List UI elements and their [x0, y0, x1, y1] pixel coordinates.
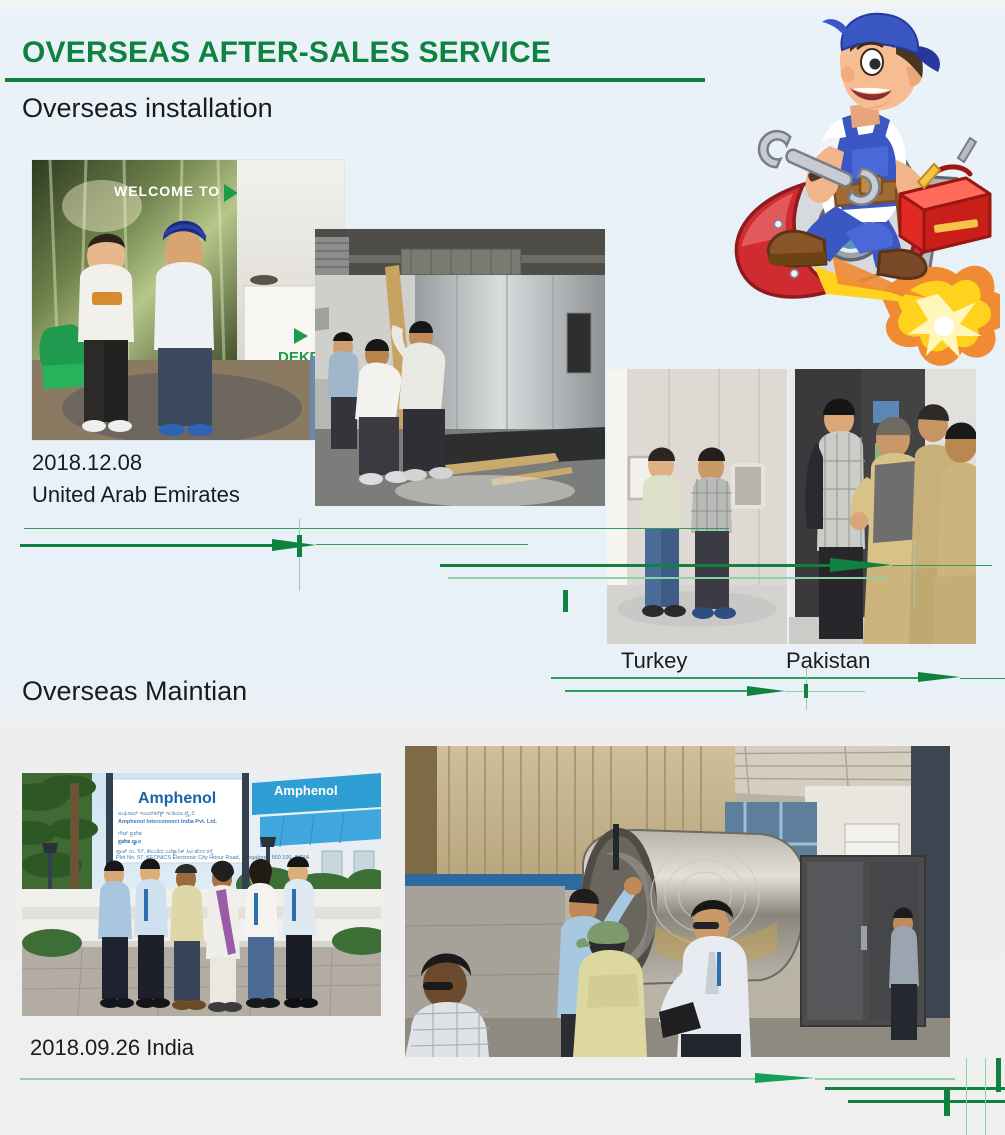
decor-vtick-4a: [944, 1088, 950, 1116]
decor-line-2pale: [448, 577, 888, 579]
decor-vtick-2: [563, 590, 568, 612]
svg-text:Amphenol: Amphenol: [138, 790, 216, 807]
title-underline: [5, 78, 705, 82]
decor-line-3tail2: [785, 691, 865, 692]
decor-line-2tail: [892, 565, 992, 566]
photo-pakistan-chamber: [789, 369, 976, 644]
photo-turkey-chamber: [607, 369, 787, 644]
svg-text:ಗೇಟ್ ಪ್ರವೇಶ: ಗೇಟ್ ಪ್ರವೇಶ: [118, 831, 142, 837]
caption-uae-date: 2018.12.08: [32, 450, 142, 476]
decor-line-1tail: [316, 544, 528, 545]
section-heading-installation: Overseas installation: [22, 93, 273, 124]
decor-vtick-3: [804, 684, 808, 698]
svg-text:ಪ್ರವೇಶ ದ್ವಾರ: ಪ್ರವೇಶ ದ್ವಾರ: [118, 839, 142, 845]
decor-line-1b: [20, 544, 275, 547]
decor-line-4b: [825, 1087, 1005, 1090]
decor-line-3tail: [960, 678, 1005, 679]
svg-text:Amphenol Interconnect India Pv: Amphenol Interconnect India Pvt. Ltd.: [118, 819, 217, 825]
decor-arrow-2: [830, 558, 892, 572]
decor-arrow-3b: [747, 686, 785, 696]
caption-turkey: Turkey: [621, 648, 687, 674]
decor-vtick-1: [297, 535, 302, 557]
decor-line-3a: [551, 677, 921, 679]
section-heading-maintenance: Overseas Maintian: [22, 676, 247, 707]
photo-chamber-installation: [315, 229, 605, 506]
decor-arrow-3a: [918, 672, 960, 682]
caption-uae-country: United Arab Emirates: [32, 482, 240, 508]
svg-text:WELCOME TO: WELCOME TO: [114, 183, 220, 199]
decor-vline-4a: [966, 1058, 967, 1135]
decor-line-4a: [20, 1078, 760, 1080]
caption-india: 2018.09.26 India: [30, 1035, 194, 1061]
decor-line-4c: [848, 1100, 1005, 1103]
photo-dekra-lobby: WELCOME TO DEKRA DEKRA: [32, 160, 344, 440]
repairman-on-rocket-icon: [700, 10, 1000, 380]
svg-text:Amphenol: Amphenol: [274, 783, 338, 798]
poster-canvas: OVERSEAS AFTER-SALES SERVICE Overseas in…: [0, 0, 1005, 1135]
decor-line-3b: [565, 690, 750, 692]
decor-vline-4b: [985, 1058, 986, 1135]
caption-pakistan: Pakistan: [786, 648, 870, 674]
decor-line-4mid: [815, 1078, 955, 1080]
decor-line-1a: [24, 528, 729, 529]
svg-text:ಅಂಫಿನಾಲ್ ಇಂಟರ್‌ಕನೆಕ್ಟ್ ಇಂಡಿಯ: ಅಂಫಿನಾಲ್ ಇಂಟರ್‌ಕನೆಕ್ಟ್ ಇಂಡಿಯಾ ಪ್ರೈ.ಲಿ: [118, 811, 195, 817]
decor-line-2: [440, 564, 835, 567]
decor-vline-2: [914, 540, 915, 610]
page-title: OVERSEAS AFTER-SALES SERVICE: [22, 36, 551, 70]
decor-vtick-4b: [996, 1058, 1001, 1092]
decor-arrow-4: [755, 1073, 815, 1083]
photo-drum-maintenance: [405, 746, 950, 1057]
photo-amphenol-india: Amphenol Amphenol ಅಂಫಿನಾಲ್ ಇಂಟರ್‌ಕನೆಕ್ಟ್…: [22, 773, 381, 1016]
decor-arrow-1: [272, 539, 316, 551]
